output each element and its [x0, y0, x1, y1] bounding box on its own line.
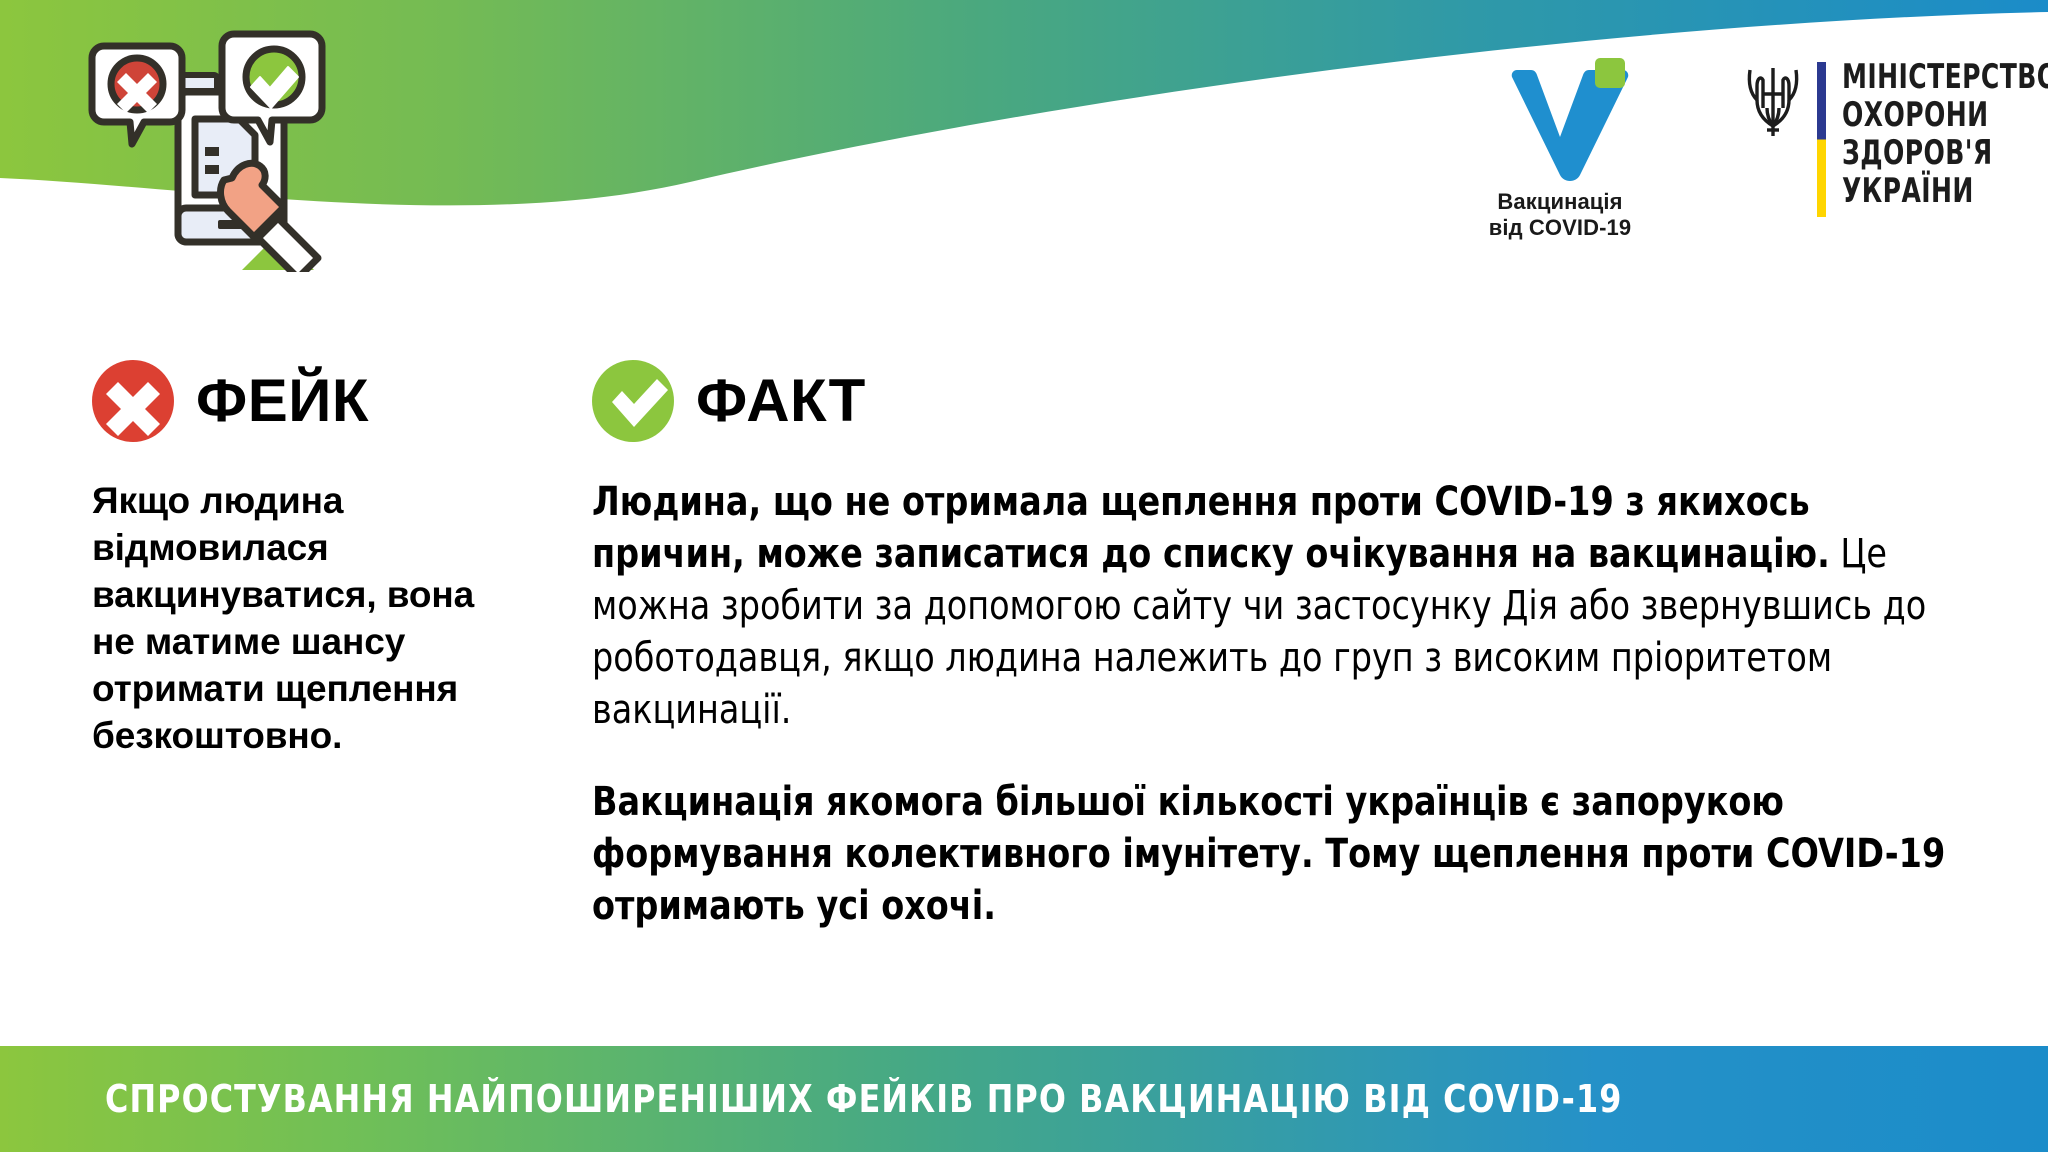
tablet-illustration	[82, 22, 352, 272]
ministry-name-lines: МІНІСТЕРСТВО ОХОРОНИ ЗДОРОВ'Я УКРАЇНИ	[1842, 58, 2048, 210]
ministry-flag-divider	[1817, 62, 1826, 217]
logo-block: Вакцинація від COVID-19 МІНІСТЕРСТВО ОХО…	[1470, 58, 2048, 241]
ministry-line-1: МІНІСТЕРСТВО	[1842, 58, 2048, 96]
green-check-circle-icon	[592, 360, 674, 442]
fact-paragraph-1: Людина, що не отримала щеплення проти CO…	[592, 476, 1955, 736]
ministry-line-2: ОХОРОНИ	[1842, 96, 2048, 134]
ministry-of-health-logo: МІНІСТЕРСТВО ОХОРОНИ ЗДОРОВ'Я УКРАЇНИ	[1745, 58, 2048, 217]
fact-paragraph-1-lead: Людина, що не отримала щеплення проти CO…	[592, 479, 1830, 577]
fake-column: ФЕЙК Якщо людина відмовилася вакцинувати…	[92, 360, 492, 760]
fact-paragraph-2: Вакцинація якомога більшої кількості укр…	[592, 776, 1955, 932]
fact-column-header: ФАКТ	[592, 360, 1962, 442]
bubble-fake-icon	[92, 46, 182, 144]
footer-title: СПРОСТУВАННЯ НАЙПОШИРЕНІШИХ ФЕЙКІВ ПРО В…	[105, 1077, 1622, 1121]
v-vaccination-logo-icon	[1485, 58, 1635, 183]
fact-column: ФАКТ Людина, що не отримала щеплення про…	[592, 360, 1962, 972]
vaccination-logo-caption: Вакцинація від COVID-19	[1489, 189, 1631, 241]
vaccination-logo: Вакцинація від COVID-19	[1470, 58, 1650, 241]
fake-column-title: ФЕЙК	[196, 371, 369, 431]
fact-column-title: ФАКТ	[696, 371, 866, 431]
ukraine-trident-icon	[1745, 64, 1801, 142]
fake-column-body: Якщо людина відмовилася вакцинуватися, в…	[92, 478, 492, 760]
ministry-line-3: ЗДОРОВ'Я	[1842, 134, 2048, 172]
red-cross-circle-icon	[92, 360, 174, 442]
fake-column-header: ФЕЙК	[92, 360, 492, 442]
ministry-line-4: УКРАЇНИ	[1842, 172, 2048, 210]
footer-bar: СПРОСТУВАННЯ НАЙПОШИРЕНІШИХ ФЕЙКІВ ПРО В…	[0, 1046, 2048, 1152]
